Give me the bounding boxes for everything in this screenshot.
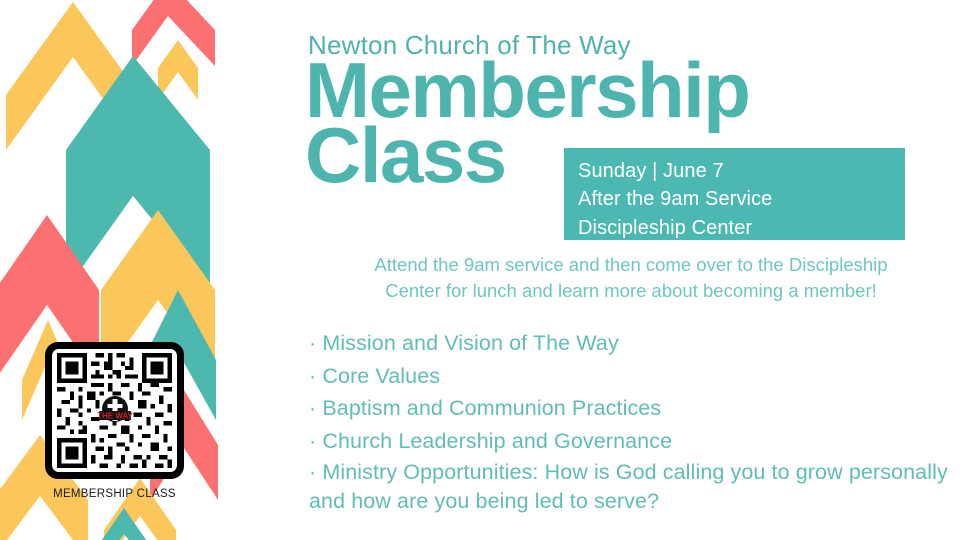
qr-caption: MEMBERSHIP CLASS <box>45 488 184 500</box>
event-time: After the 9am Service <box>578 185 905 213</box>
topics-list: · Mission and Vision of The Way · Core V… <box>309 327 949 517</box>
description-text: Attend the 9am service and then come ove… <box>307 252 955 305</box>
chevron-yellow-small-top-right <box>158 40 198 100</box>
description-line-1: Attend the 9am service and then come ove… <box>307 252 955 278</box>
content-column: Newton Church of The Way Membership Clas… <box>305 0 960 540</box>
qr-code-surface[interactable]: THE WAY <box>52 349 177 472</box>
event-location: Discipleship Center <box>578 214 905 242</box>
qr-code-frame[interactable]: THE WAY <box>45 342 184 479</box>
list-item: · Baptism and Communion Practices <box>309 392 949 425</box>
list-item: · Core Values <box>309 360 949 393</box>
qr-code-block[interactable]: THE WAY MEMBERSHIP CLASS <box>45 342 184 500</box>
list-item: · Church Leadership and Governance <box>309 425 949 458</box>
event-details-box: Sunday | June 7 After the 9am Service Di… <box>564 148 905 240</box>
description-line-2: Center for lunch and learn more about be… <box>307 278 955 304</box>
list-item: · Mission and Vision of The Way <box>309 327 949 360</box>
event-date: Sunday | June 7 <box>578 157 905 185</box>
svg-text:THE WAY: THE WAY <box>97 411 133 420</box>
poster-canvas: THE WAY MEMBERSHIP CLASS Newton Church o… <box>0 0 960 540</box>
list-item: · Ministry Opportunities: How is God cal… <box>309 458 949 517</box>
church-logo-icon: THE WAY <box>95 394 135 428</box>
